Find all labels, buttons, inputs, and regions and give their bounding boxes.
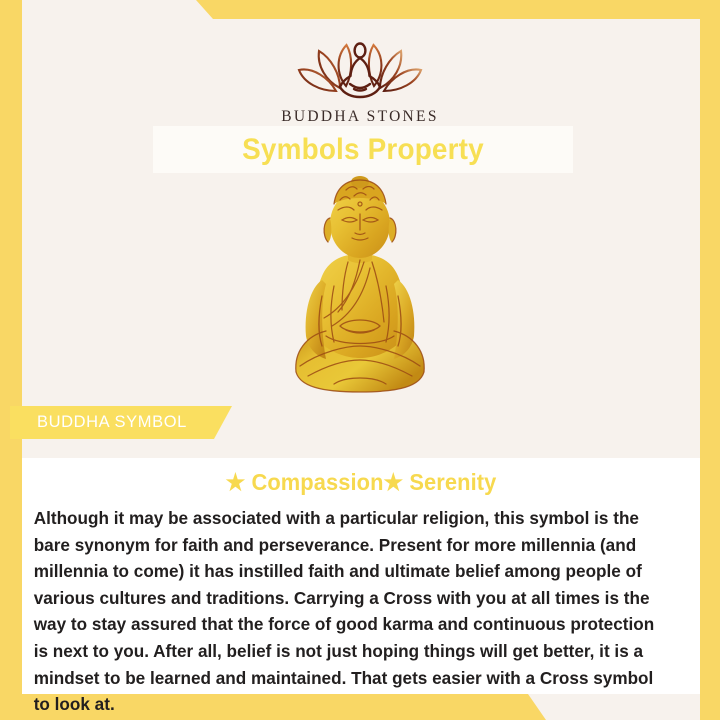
- content-card: ★ Compassion★ Serenity Although it may b…: [22, 458, 700, 694]
- brand-name: BUDDHA STONES: [281, 108, 439, 126]
- top-accent-band: [0, 0, 720, 19]
- title-banner: Symbols Property: [153, 126, 573, 173]
- content-headline: ★ Compassion★ Serenity: [39, 458, 683, 496]
- content-body: Although it may be associated with a par…: [22, 496, 683, 718]
- lotus-meditation-icon: [284, 24, 436, 100]
- page-title: Symbols Property: [242, 133, 484, 167]
- brand-logo: BUDDHA STONES: [0, 24, 720, 126]
- section-ribbon: BUDDHA SYMBOL: [10, 406, 232, 439]
- infographic-page: BUDDHA STONES Symbols Property: [0, 0, 720, 720]
- section-ribbon-label: BUDDHA SYMBOL: [37, 413, 187, 432]
- seated-buddha-statue: [260, 176, 460, 408]
